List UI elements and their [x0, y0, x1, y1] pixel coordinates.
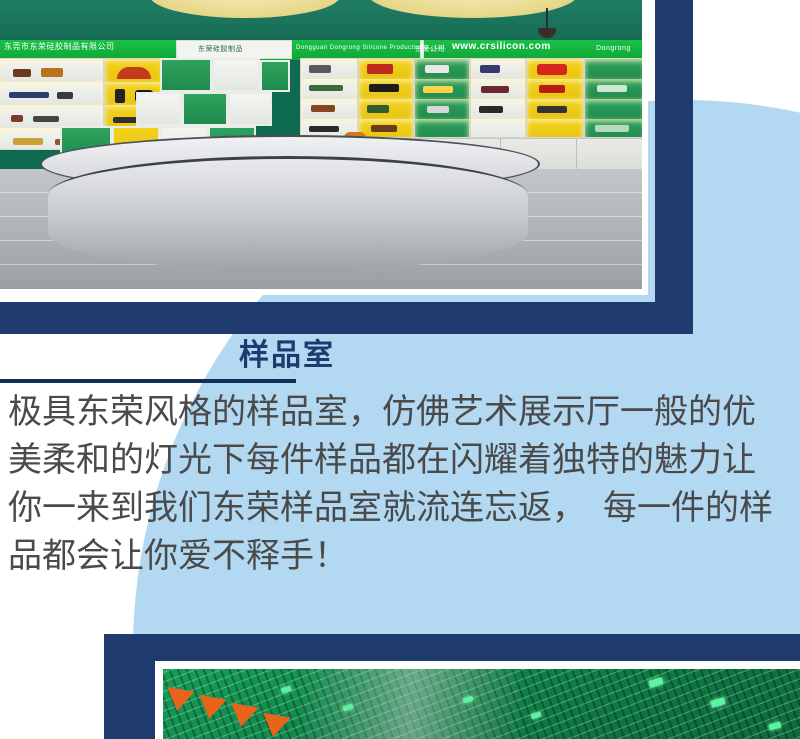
bunting-flag-4: [259, 713, 290, 739]
section-body-text: 极具东荣风格的样品室，仿佛艺术展示厅一般的优 美柔和的灯光下每件样品都在闪耀着独…: [8, 388, 792, 580]
pendant-lamp-cord: [546, 8, 548, 30]
sign-text-4: www.crsilicon.com: [452, 41, 551, 52]
promo-page: 东莞市东荣硅胶制品有限公司 东荣硅胶制品 Dongguan Dongrong S…: [0, 0, 800, 739]
bunting-flag-1: [163, 687, 194, 714]
top-photo-frame: 东莞市东荣硅胶制品有限公司 东荣硅胶制品 Dongguan Dongrong S…: [0, 0, 648, 295]
navy-horizontal-band: [0, 302, 693, 334]
bottom-photo-navy-frame: [104, 634, 800, 739]
bunting-flag-2: [195, 695, 226, 722]
bottom-photo-white-inset: [155, 661, 800, 739]
sign-text-3: 东荣公司: [415, 44, 445, 54]
page-title: 样品室: [0, 336, 574, 376]
sign-text-1: 东荣硅胶制品: [198, 44, 243, 54]
bunting-flag-3: [227, 703, 258, 730]
mesh-sheen: [297, 669, 526, 739]
reception-counter-base: [48, 156, 528, 271]
body-line-3: 你一来到我们东荣样品室就流连忘返， 每一件的样: [8, 484, 792, 532]
body-line-2: 美柔和的灯光下每件样品都在闪耀着独特的魅力让: [8, 436, 792, 484]
body-line-4: 品都会让你爱不释手！: [8, 532, 792, 580]
sign-text-5: Dongrong: [596, 45, 631, 52]
navy-vertical-bar: [655, 0, 693, 334]
body-line-1: 极具东荣风格的样品室，仿佛艺术展示厅一般的优: [8, 388, 792, 436]
title-underline-rule: [0, 379, 296, 383]
green-mesh-ceiling-photo: [163, 669, 800, 739]
showroom-interior-photo: 东莞市东荣硅胶制品有限公司 东荣硅胶制品 Dongguan Dongrong S…: [0, 0, 642, 289]
sign-text-0: 东莞市东荣硅胶制品有限公司: [4, 41, 115, 52]
